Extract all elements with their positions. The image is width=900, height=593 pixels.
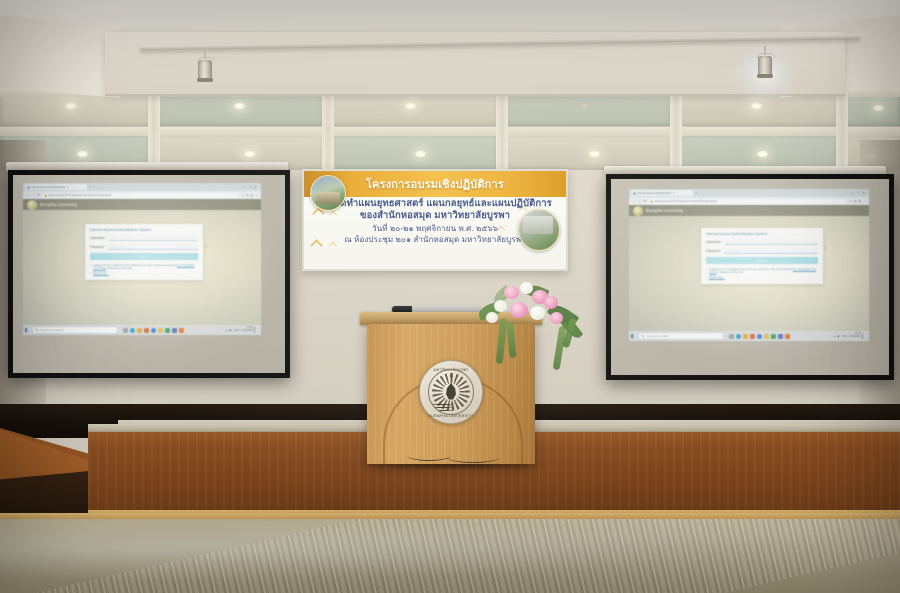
extensions-icon[interactable]: ⊞: [246, 193, 249, 197]
window-controls: — □ ✕: [242, 185, 259, 189]
login-note: • Logging in as a registered user indica…: [706, 268, 818, 275]
flower-white: [486, 312, 498, 323]
taskbar-clock[interactable]: 14:58 20/11/2566: [241, 327, 252, 332]
start-button-icon[interactable]: [631, 334, 636, 339]
floor-reflection: [0, 519, 900, 593]
username-input[interactable]: Username: [109, 235, 198, 241]
system-tray: ^ ☁ 🔊 ENG 14:58 20/11/2566: [831, 333, 868, 339]
login-notes: • Logging in as a registered user indica…: [706, 268, 818, 280]
tab-favicon: [633, 192, 636, 195]
tab-close-icon[interactable]: ×: [673, 190, 675, 196]
downlight: [76, 150, 89, 158]
downlight: [233, 102, 246, 110]
edge-icon[interactable]: [130, 328, 135, 333]
address-bar-icons: ☆ ⊞ ◍ ⋮: [849, 199, 866, 203]
url-input[interactable]: 🔒 authen.buu.ac.th/?0=1&po=&r=1&v=&b=1&r…: [42, 193, 239, 198]
login-note: • Read more...: [706, 276, 818, 279]
parquet-floor: [0, 519, 900, 593]
edge-icon[interactable]: [736, 334, 741, 339]
read-more-link[interactable]: Read more...: [93, 272, 109, 275]
chrome-icon[interactable]: [151, 328, 156, 333]
ceiling-soffit-left: [0, 16, 120, 98]
task-view-icon[interactable]: [123, 328, 128, 333]
search-icon: 🔍: [641, 334, 645, 338]
note-tail: of Burapha University.: [107, 267, 133, 270]
conference-room-photo: Internet Access Authentication × + — □ ✕…: [0, 0, 900, 593]
back-icon[interactable]: ←: [632, 199, 636, 203]
trailing-greenery: [496, 318, 508, 364]
note-text: Logging in as a registered user indicate…: [93, 264, 176, 267]
browser-menu-icon[interactable]: ⋮: [863, 199, 866, 203]
windows-taskbar: 🔍 Type here to search: [629, 331, 869, 341]
browser-tab-strip: Internet Access Authentication × + — □ ✕: [23, 183, 261, 191]
forward-icon[interactable]: →: [32, 193, 36, 197]
tray-chevron-icon[interactable]: ^: [223, 329, 224, 332]
banner-photo-left: [310, 175, 346, 211]
extensions-icon[interactable]: ⊞: [854, 199, 857, 203]
show-desktop-button[interactable]: [254, 327, 257, 333]
taskbar-app-icons: [729, 334, 790, 339]
bullet-icon: •: [90, 264, 91, 271]
downlight: [404, 102, 417, 110]
sign-in-button[interactable]: Sign In: [706, 257, 818, 264]
windows-taskbar: 🔍 Type here to search: [23, 325, 261, 335]
lock-icon: 🔒: [44, 194, 47, 197]
start-button-icon[interactable]: [25, 328, 30, 333]
university-logo-icon: [27, 200, 37, 210]
flower-pink: [544, 296, 558, 309]
trailing-greenery: [553, 326, 567, 371]
window-maximize-icon[interactable]: □: [857, 191, 859, 195]
downlight: [243, 150, 256, 158]
system-tray: ^ ☁ 🔊 ENG 14:58 20/11/2566: [223, 327, 260, 333]
downlight: [872, 104, 885, 112]
teams-icon[interactable]: [778, 334, 783, 339]
left-projection-screen: Internet Access Authentication × + — □ ✕…: [8, 170, 290, 378]
taskbar-search-input[interactable]: 🔍 Type here to search: [638, 332, 724, 340]
password-label: Password:: [90, 245, 105, 249]
search-icon: 🔍: [35, 328, 39, 332]
browser-address-bar: ← → ⟳ 🔒 authen.buu.ac.th/?0=1&po=&r=1&v=…: [23, 191, 261, 199]
login-card: Internet Access Authentication System Us…: [85, 224, 203, 280]
window-minimize-icon[interactable]: —: [850, 191, 854, 195]
tab-title: Internet Access Authentication: [637, 192, 672, 195]
profile-icon[interactable]: ◍: [858, 199, 861, 203]
login-note: • Read more...: [90, 272, 198, 275]
browser-tab[interactable]: Internet Access Authentication ×: [25, 184, 87, 190]
window-minimize-icon[interactable]: —: [242, 185, 246, 189]
tray-cloud-icon[interactable]: ☁: [225, 329, 228, 332]
flower-pink: [510, 302, 528, 318]
photos-icon[interactable]: [179, 328, 184, 333]
downlight: [588, 150, 601, 158]
browser-tab-strip: Internet Access Authentication × + — □ ✕: [629, 189, 869, 197]
url-input[interactable]: 🔒 authen.buu.ac.th/?0=1&po=&r=1&v=&b=1&r…: [648, 199, 847, 204]
tab-title: Internet Access Authentication: [31, 186, 66, 189]
password-input[interactable]: Password: [108, 244, 198, 250]
username-label: Username:: [706, 240, 722, 244]
banner-photo-right: [518, 209, 560, 251]
tab-favicon: [27, 186, 30, 189]
university-logo-icon: [633, 206, 643, 216]
downlight: [414, 150, 427, 158]
back-icon[interactable]: ←: [26, 193, 30, 197]
site-header-bar: Burapha University: [23, 199, 261, 210]
tray-language-icon[interactable]: ENG: [234, 329, 240, 332]
url-text: authen.buu.ac.th/?0=1&po=&r=1&v=&b=1&r=1…: [654, 200, 717, 203]
login-note: • Logging in as a registered user indica…: [90, 264, 198, 271]
lock-icon: 🔒: [650, 200, 653, 203]
banner-title: โครงการอบรมเชิงปฏิบัติการ: [366, 175, 504, 193]
new-tab-icon[interactable]: +: [89, 184, 91, 190]
password-input[interactable]: Password: [724, 248, 818, 254]
track-spotlight: [756, 46, 774, 80]
taskbar-clock[interactable]: 14:58 20/11/2566: [849, 333, 860, 338]
new-tab-icon[interactable]: +: [695, 190, 697, 196]
login-card-title: Internet Access Authentication System: [90, 228, 198, 232]
seal-wave-icon: [429, 408, 455, 411]
url-text: authen.buu.ac.th/?0=1&po=&r=1&v=&b=1&r=1…: [48, 194, 111, 197]
reload-icon[interactable]: ⟳: [643, 199, 646, 203]
search-placeholder: Type here to search: [40, 329, 63, 332]
tray-volume-icon[interactable]: 🔊: [229, 329, 232, 332]
file-explorer-icon[interactable]: [743, 334, 748, 339]
site-header-bar: Burapha University: [629, 205, 869, 216]
reload-icon[interactable]: ⟳: [37, 193, 40, 197]
username-input[interactable]: Username: [725, 239, 818, 245]
login-card: Internet Access Authentication System Us…: [701, 228, 823, 284]
flower-white: [494, 300, 507, 312]
flower-arrangement: [474, 278, 586, 378]
clock-date: 20/11/2566: [241, 330, 252, 333]
username-row: Username: Username: [90, 235, 198, 241]
mouse-cursor-icon: [205, 244, 207, 248]
star-icon[interactable]: ☆: [241, 193, 244, 197]
university-name: Burapha University: [40, 202, 77, 207]
browser-address-bar: ← → ⟳ 🔒 authen.buu.ac.th/?0=1&po=&r=1&v=…: [629, 197, 869, 205]
projected-desktop-left: Internet Access Authentication × + — □ ✕…: [23, 183, 261, 335]
bullet-icon: •: [90, 272, 91, 275]
login-notes: • Logging in as a registered user indica…: [90, 264, 198, 276]
tray-language-icon[interactable]: ENG: [842, 335, 848, 338]
flower-pink: [550, 312, 563, 324]
file-explorer-icon[interactable]: [137, 328, 142, 333]
projected-desktop-right: Internet Access Authentication × + — □ ✕…: [629, 189, 869, 341]
flower-white: [520, 282, 533, 294]
university-name: Burapha University: [646, 208, 683, 213]
taskbar-search-input[interactable]: 🔍 Type here to search: [32, 326, 118, 334]
paint-icon[interactable]: [750, 334, 755, 339]
folder-icon[interactable]: [158, 328, 163, 333]
tab-close-icon[interactable]: ×: [67, 184, 69, 190]
show-desktop-button[interactable]: [862, 333, 865, 339]
password-row: Password: Password: [706, 248, 818, 254]
mouse-cursor-icon: [825, 246, 827, 250]
tray-volume-icon[interactable]: 🔊: [837, 335, 840, 338]
teams-icon[interactable]: [172, 328, 177, 333]
forward-icon[interactable]: →: [638, 199, 642, 203]
downlight: [750, 102, 763, 110]
clock-date: 20/11/2566: [849, 336, 860, 339]
folder-icon[interactable]: [764, 334, 769, 339]
track-spotlight: [196, 50, 214, 84]
seal-inner-ring: [428, 369, 474, 415]
flower-white: [530, 306, 545, 320]
username-label: Username:: [90, 236, 106, 240]
flower-pink: [504, 286, 519, 299]
password-row: Password: Password: [90, 244, 198, 250]
chrome-icon[interactable]: [757, 334, 762, 339]
paint-icon[interactable]: [144, 328, 149, 333]
bullet-icon: •: [706, 268, 707, 275]
seal-english-text: BURAPHA UNIVERSITY: [420, 414, 482, 418]
bullet-icon: •: [706, 276, 707, 279]
window-controls: — □ ✕: [850, 191, 867, 195]
task-view-icon[interactable]: [729, 334, 734, 339]
browser-menu-icon[interactable]: ⋮: [255, 193, 258, 197]
excel-icon[interactable]: [771, 334, 776, 339]
read-more-link[interactable]: Read more...: [709, 276, 725, 279]
password-label: Password:: [706, 249, 721, 253]
page-body: Internet Access Authentication System Us…: [23, 210, 261, 325]
star-icon[interactable]: ☆: [849, 199, 852, 203]
event-banner: โครงการอบรมเชิงปฏิบัติการ การจัดทำแผนยุท…: [302, 169, 568, 271]
window-maximize-icon[interactable]: □: [249, 185, 251, 189]
excel-icon[interactable]: [165, 328, 170, 333]
username-row: Username: Username: [706, 239, 818, 245]
photos-icon[interactable]: [785, 334, 790, 339]
tray-cloud-icon[interactable]: ☁: [833, 335, 836, 338]
podium-cables: [407, 450, 517, 466]
right-projection-screen: Internet Access Authentication × + — □ ✕…: [606, 174, 894, 380]
downlight: [578, 102, 591, 110]
window-close-icon[interactable]: ✕: [254, 185, 257, 189]
page-body: Internet Access Authentication System Us…: [629, 216, 869, 331]
tray-chevron-icon[interactable]: ^: [831, 335, 832, 338]
browser-tab[interactable]: Internet Access Authentication ×: [631, 190, 693, 196]
window-close-icon[interactable]: ✕: [862, 191, 865, 195]
downlight: [64, 102, 77, 110]
search-placeholder: Type here to search: [646, 335, 669, 338]
taskbar-app-icons: [123, 328, 184, 333]
address-bar-icons: ☆ ⊞ ◍ ⋮: [241, 193, 258, 197]
trailing-greenery: [506, 322, 516, 358]
login-card-title: Internet Access Authentication System: [706, 232, 818, 236]
coffered-ceiling: [0, 88, 900, 170]
profile-icon[interactable]: ◍: [250, 193, 253, 197]
note-tail: of Burapha University.: [717, 271, 743, 274]
sign-in-button[interactable]: Sign In: [90, 253, 198, 260]
downlight: [756, 150, 769, 158]
